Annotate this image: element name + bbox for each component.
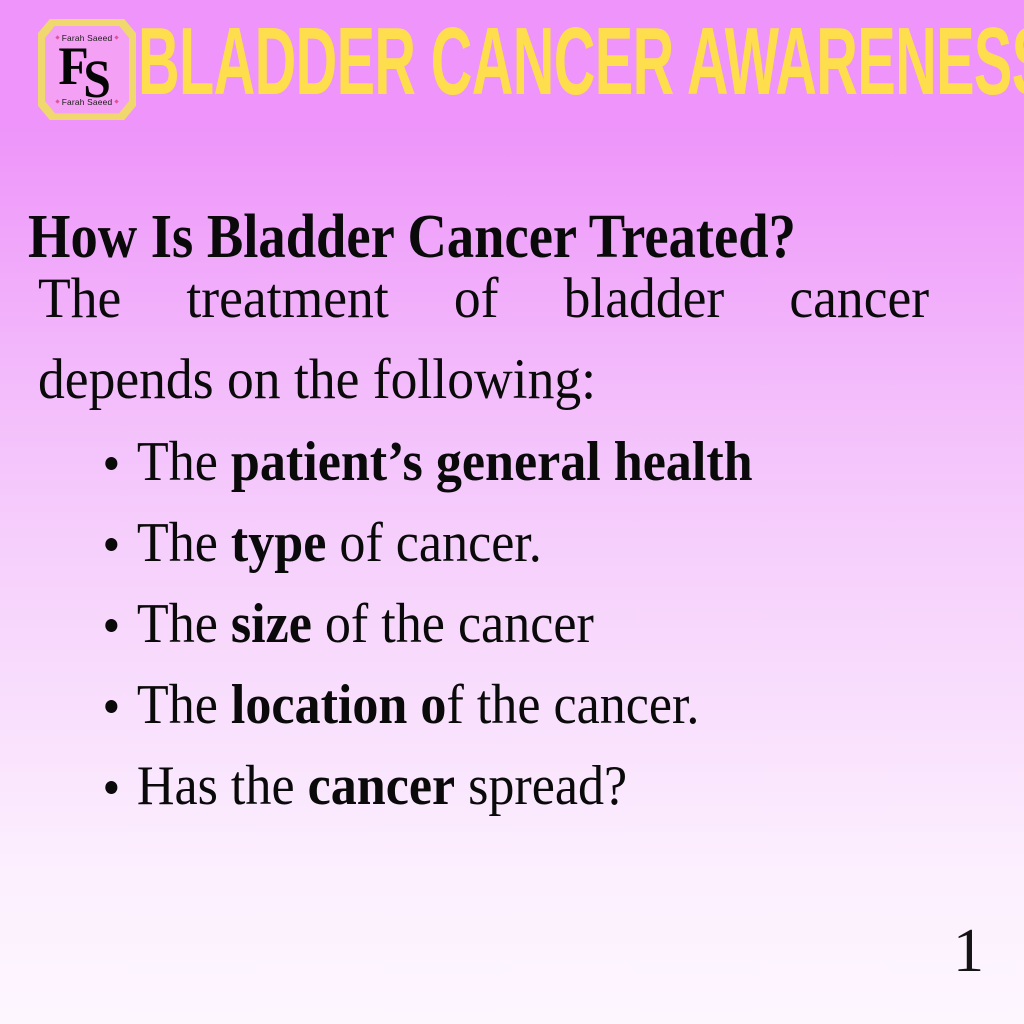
- list-item-suffix: f the cancer.: [446, 674, 699, 736]
- logo-caption-bottom: Farah Saeed: [45, 97, 129, 107]
- list-item-prefix: The: [137, 512, 231, 574]
- logo-caption-bottom-text: Farah Saeed: [62, 97, 113, 107]
- bullet-marker-icon: [105, 700, 117, 713]
- list-item-suffix: of cancer.: [326, 512, 541, 574]
- list-item: The size of the cancer: [96, 584, 933, 665]
- diamond-dot-icon: [115, 36, 119, 40]
- header-band: Farah Saeed F S Farah Saeed BLADDER CANC…: [0, 0, 1024, 134]
- bullet-marker-icon: [105, 538, 117, 551]
- list-item: The type of cancer.: [96, 503, 933, 584]
- list-item-keyword: cancer: [308, 755, 455, 817]
- list-item-prefix: The: [137, 593, 231, 655]
- list-item-prefix: The: [137, 431, 231, 493]
- treatment-factor-list: The patient’s general healthThe type of …: [96, 422, 996, 827]
- intro-paragraph-line-2: depends on the following:: [38, 339, 929, 420]
- list-item: Has the cancer spread?: [96, 746, 933, 827]
- brand-logo-badge: Farah Saeed F S Farah Saeed: [38, 19, 136, 120]
- list-item-prefix: Has the: [137, 755, 308, 817]
- poster-slide: Farah Saeed F S Farah Saeed BLADDER CANC…: [0, 0, 1024, 1024]
- bullet-marker-icon: [105, 619, 117, 632]
- list-item-keyword: location o: [231, 674, 447, 736]
- banner-title: BLADDER CANCER AWARENESS: [138, 14, 1002, 110]
- logo-monogram: F S: [45, 41, 129, 99]
- list-item-keyword: type: [231, 512, 326, 574]
- intro-paragraph-line-1: The treatment of bladder cancer: [38, 258, 929, 339]
- list-item: The patient’s general health: [96, 422, 933, 503]
- list-item-keyword: patient’s general health: [231, 431, 753, 493]
- bullet-marker-icon: [105, 781, 117, 794]
- diamond-dot-icon: [115, 100, 119, 104]
- intro-paragraph: The treatment of bladder cancer depends …: [38, 258, 929, 420]
- bullet-marker-icon: [105, 457, 117, 470]
- list-item-suffix: of the cancer: [312, 593, 594, 655]
- list-item-keyword: size: [231, 593, 312, 655]
- list-item-suffix: spread?: [455, 755, 627, 817]
- brand-logo-panel: Farah Saeed F S Farah Saeed: [45, 26, 129, 114]
- list-item-prefix: The: [137, 674, 231, 736]
- page-number: 1: [953, 920, 984, 982]
- list-item: The location of the cancer.: [96, 665, 933, 746]
- diamond-dot-icon: [55, 100, 59, 104]
